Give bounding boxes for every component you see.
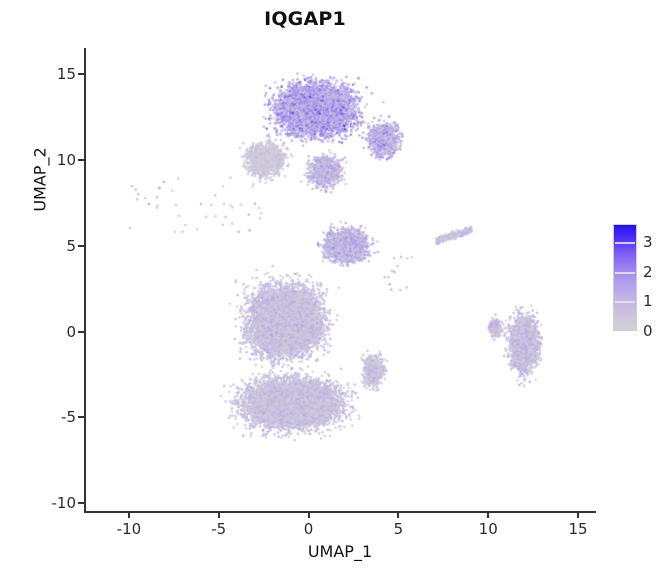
y-tick-label: -5 — [61, 408, 76, 426]
x-tick-mark — [577, 511, 579, 518]
page-title: IQGAP1 — [0, 8, 610, 30]
y-tick-mark — [78, 331, 85, 333]
x-tick-mark — [218, 511, 220, 518]
x-tick-label: -10 — [117, 520, 142, 538]
y-tick-label: 10 — [57, 151, 76, 169]
y-tick-mark — [78, 502, 85, 504]
x-tick-label: 5 — [394, 520, 404, 538]
y-tick-mark — [78, 159, 85, 161]
y-tick-label: -10 — [52, 494, 77, 512]
y-axis-title: UMAP_2 — [31, 80, 50, 280]
colorbar-tick-mark — [615, 242, 635, 244]
y-tick-label: 0 — [66, 323, 76, 341]
x-tick-label: 10 — [479, 520, 498, 538]
colorbar-gradient — [613, 224, 637, 331]
x-tick-mark — [487, 511, 489, 518]
y-tick-mark — [78, 416, 85, 418]
y-tick-mark — [78, 73, 85, 75]
x-tick-label: 0 — [304, 520, 314, 538]
colorbar-tick-label: 1 — [643, 292, 653, 310]
x-axis-title: UMAP_1 — [84, 542, 596, 561]
y-tick-label: 5 — [66, 237, 76, 255]
colorbar-tick-mark — [615, 301, 635, 303]
colorbar-tick-mark — [615, 272, 635, 274]
x-tick-mark — [397, 511, 399, 518]
x-tick-label: -5 — [211, 520, 226, 538]
y-tick-mark — [78, 245, 85, 247]
colorbar-tick-label: 2 — [643, 263, 653, 281]
x-axis-line — [84, 511, 596, 513]
x-tick-mark — [128, 511, 130, 518]
colorbar-tick-label: 0 — [643, 322, 653, 340]
y-tick-label: 15 — [57, 65, 76, 83]
scatter-plot-area[interactable] — [84, 48, 596, 512]
umap-feature-plot: IQGAP1 -10-5051015 -10-5051015 UMAP_1 UM… — [0, 0, 672, 576]
x-tick-mark — [308, 511, 310, 518]
x-tick-label: 15 — [568, 520, 587, 538]
y-axis-line — [84, 48, 86, 512]
scatter-canvas[interactable] — [84, 48, 596, 512]
colorbar-tick-label: 3 — [643, 233, 653, 251]
